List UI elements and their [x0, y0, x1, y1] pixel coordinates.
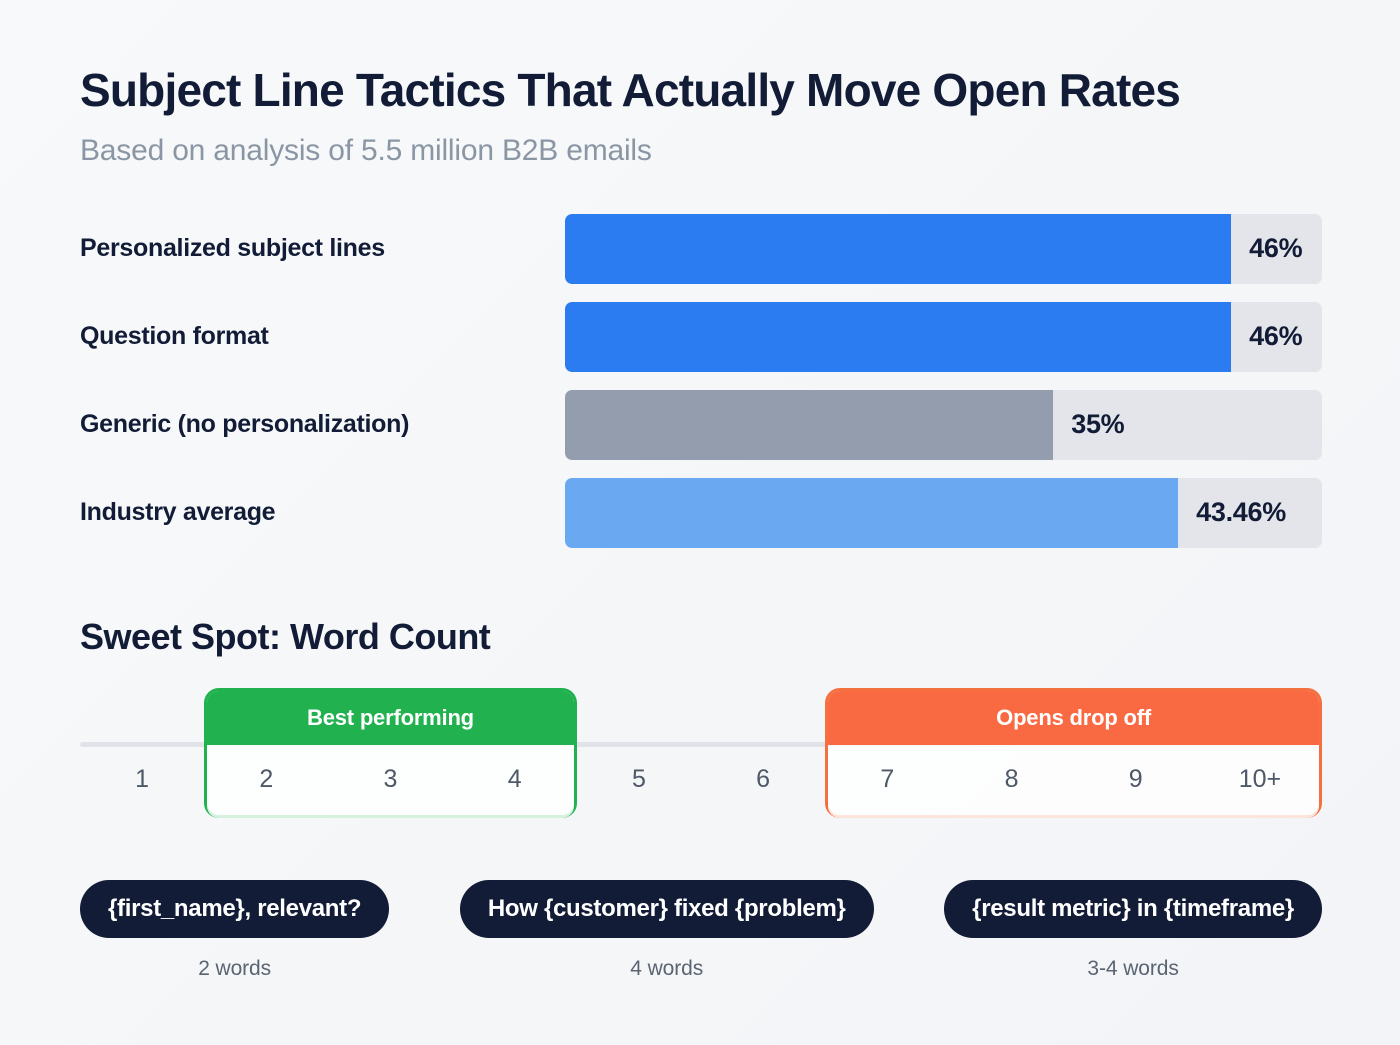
bar-label: Generic (no personalization)	[80, 410, 565, 439]
bar-track: 35%	[565, 390, 1322, 460]
bar-value: 43.46%	[1196, 497, 1286, 528]
example-pill[interactable]: {first_name}, relevant?	[80, 880, 389, 938]
example-item: {first_name}, relevant?2 words	[80, 880, 389, 981]
scale-tick-8: 8	[949, 742, 1073, 818]
scale-tick-10plus: 10+	[1198, 742, 1322, 818]
scale-tick-6: 6	[701, 742, 825, 818]
scale-zone-label: Opens drop off	[828, 691, 1319, 745]
example-word-count: 2 words	[198, 957, 271, 981]
scale-tick-4: 4	[453, 742, 577, 818]
bar-value: 46%	[1249, 321, 1302, 352]
infographic-canvas: Subject Line Tactics That Actually Move …	[0, 0, 1400, 1045]
example-pill[interactable]: {result metric} in {timeframe}	[944, 880, 1322, 938]
bar-value: 35%	[1071, 409, 1124, 440]
example-subject-lines: {first_name}, relevant?2 wordsHow {custo…	[0, 880, 1400, 981]
bar-track: 43.46%	[565, 478, 1322, 548]
section-title-word-count: Sweet Spot: Word Count	[0, 616, 1400, 658]
bar-fill	[565, 390, 1053, 460]
scale-tick-2: 2	[204, 742, 328, 818]
scale-ticks: 12345678910+	[80, 742, 1322, 818]
scale-tick-5: 5	[577, 742, 701, 818]
bar-row: Generic (no personalization)35%	[80, 390, 1322, 460]
example-item: {result metric} in {timeframe}3-4 words	[944, 880, 1322, 981]
bar-label: Question format	[80, 322, 565, 351]
bar-fill	[565, 302, 1231, 372]
scale-tick-9: 9	[1074, 742, 1198, 818]
page-title: Subject Line Tactics That Actually Move …	[80, 66, 1320, 115]
scale-tick-7: 7	[825, 742, 949, 818]
bar-fill	[565, 214, 1231, 284]
page-subtitle: Based on analysis of 5.5 million B2B ema…	[80, 134, 1320, 168]
bar-row: Industry average43.46%	[80, 478, 1322, 548]
word-count-scale: 12345678910+ Best performingOpens drop o…	[0, 688, 1400, 838]
header: Subject Line Tactics That Actually Move …	[0, 0, 1400, 168]
bar-row: Personalized subject lines46%	[80, 214, 1322, 284]
bar-label: Personalized subject lines	[80, 234, 565, 263]
bar-chart: Personalized subject lines46%Question fo…	[0, 214, 1400, 548]
example-pill[interactable]: How {customer} fixed {problem}	[460, 880, 874, 938]
bar-value: 46%	[1249, 233, 1302, 264]
example-word-count: 3-4 words	[1087, 957, 1178, 981]
example-item: How {customer} fixed {problem}4 words	[460, 880, 874, 981]
scale-tick-3: 3	[328, 742, 452, 818]
scale-zone-label: Best performing	[207, 691, 574, 745]
bar-fill	[565, 478, 1178, 548]
scale-tick-1: 1	[80, 742, 204, 818]
bar-row: Question format46%	[80, 302, 1322, 372]
example-word-count: 4 words	[630, 957, 703, 981]
bar-label: Industry average	[80, 498, 565, 527]
bar-track: 46%	[565, 302, 1322, 372]
bar-track: 46%	[565, 214, 1322, 284]
